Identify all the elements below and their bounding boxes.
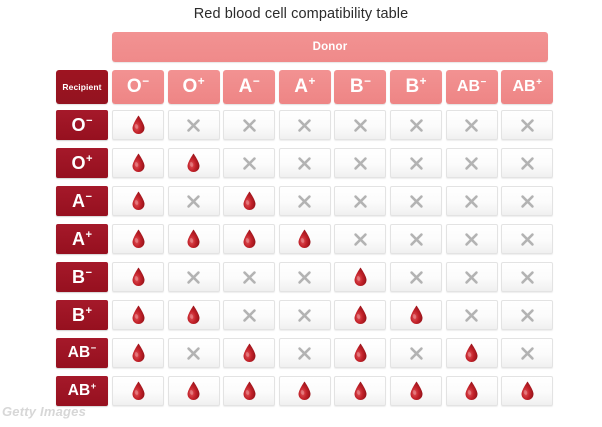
recipient-corner-label: Recipient: [56, 70, 108, 104]
blood-drop-icon: [242, 191, 257, 211]
cross-x-icon: [352, 193, 369, 210]
blood-type-label: AB+: [68, 382, 97, 400]
blood-type-label: A+: [294, 76, 315, 98]
cross-x-icon: [296, 117, 313, 134]
donor-header-apos[interactable]: A+: [279, 70, 331, 104]
donor-banner: Donor: [112, 32, 548, 62]
blood-type-label: A+: [72, 229, 92, 250]
matrix-cell[interactable]: [334, 376, 386, 406]
cross-x-icon: [463, 231, 480, 248]
rh-sign: +: [420, 75, 427, 88]
blood-drop-icon: [242, 343, 257, 363]
blood-drop-icon: [131, 343, 146, 363]
matrix-cell[interactable]: [223, 300, 275, 330]
matrix-cell[interactable]: [501, 148, 553, 178]
matrix-cell[interactable]: [390, 376, 442, 406]
blood-type-label: AB−: [68, 344, 97, 362]
matrix-cell[interactable]: [390, 300, 442, 330]
cross-x-icon: [185, 345, 202, 362]
blood-type-label: O+: [183, 76, 205, 98]
blood-type-label: AB+: [512, 78, 541, 96]
rh-sign: +: [308, 75, 315, 88]
blood-drop-icon: [186, 381, 201, 401]
matrix-cell[interactable]: [168, 186, 220, 216]
matrix-cell[interactable]: [446, 376, 498, 406]
cross-x-icon: [519, 307, 536, 324]
blood-drop-icon: [131, 305, 146, 325]
matrix-cell[interactable]: [112, 262, 164, 292]
matrix-cell[interactable]: [223, 338, 275, 368]
matrix-cell[interactable]: [390, 262, 442, 292]
matrix-cell[interactable]: [112, 376, 164, 406]
cross-x-icon: [185, 193, 202, 210]
recipient-corner-text: Recipient: [62, 82, 101, 92]
matrix-cell[interactable]: [390, 224, 442, 254]
cross-x-icon: [185, 269, 202, 286]
rh-sign: −: [85, 191, 92, 203]
matrix-cell[interactable]: [446, 186, 498, 216]
matrix-cell[interactable]: [501, 262, 553, 292]
cross-x-icon: [519, 117, 536, 134]
blood-drop-icon: [242, 229, 257, 249]
blood-type-label: O−: [127, 76, 149, 98]
blood-type-label: A−: [239, 76, 260, 98]
cross-x-icon: [241, 269, 258, 286]
donor-header-aneg[interactable]: A−: [223, 70, 275, 104]
blood-drop-icon: [186, 153, 201, 173]
donor-banner-label: Donor: [313, 41, 348, 53]
blood-drop-icon: [409, 381, 424, 401]
donor-header-abpos[interactable]: AB+: [501, 70, 553, 104]
cross-x-icon: [463, 269, 480, 286]
matrix-cell[interactable]: [446, 224, 498, 254]
cross-x-icon: [352, 117, 369, 134]
blood-drop-icon: [353, 343, 368, 363]
cross-x-icon: [408, 155, 425, 172]
matrix-cell[interactable]: [279, 262, 331, 292]
recipient-header-opos[interactable]: O+: [56, 148, 108, 178]
rh-sign: +: [198, 75, 205, 88]
recipient-header-bpos[interactable]: B+: [56, 300, 108, 330]
cross-x-icon: [296, 345, 313, 362]
blood-drop-icon: [464, 381, 479, 401]
cross-x-icon: [519, 193, 536, 210]
matrix-cell[interactable]: [390, 186, 442, 216]
cross-x-icon: [463, 155, 480, 172]
donor-header-oneg[interactable]: O−: [112, 70, 164, 104]
cross-x-icon: [241, 307, 258, 324]
matrix-cell[interactable]: [223, 186, 275, 216]
matrix-cell[interactable]: [168, 376, 220, 406]
donor-header-bpos[interactable]: B+: [390, 70, 442, 104]
blood-drop-icon: [186, 229, 201, 249]
blood-type-label: A−: [72, 191, 92, 212]
matrix-cell[interactable]: [501, 300, 553, 330]
matrix-cell[interactable]: [168, 300, 220, 330]
blood-type-label: B+: [405, 76, 426, 98]
matrix-cell[interactable]: [501, 110, 553, 140]
recipient-header-aneg[interactable]: A−: [56, 186, 108, 216]
cross-x-icon: [352, 231, 369, 248]
matrix-cell[interactable]: [334, 300, 386, 330]
rh-sign: −: [142, 75, 149, 88]
matrix-cell[interactable]: [223, 148, 275, 178]
matrix-cell[interactable]: [501, 186, 553, 216]
matrix-cell[interactable]: [168, 338, 220, 368]
matrix-cell[interactable]: [501, 224, 553, 254]
blood-drop-icon: [409, 305, 424, 325]
matrix-cell[interactable]: [446, 110, 498, 140]
cross-x-icon: [296, 155, 313, 172]
donor-header-row: Recipient O−O+A−A+B−B+AB−AB+: [56, 70, 548, 104]
blood-type-label: B+: [72, 305, 92, 326]
cross-x-icon: [296, 193, 313, 210]
donor-header-bneg[interactable]: B−: [334, 70, 386, 104]
matrix-cell[interactable]: [279, 338, 331, 368]
matrix-cell[interactable]: [223, 376, 275, 406]
cross-x-icon: [408, 345, 425, 362]
matrix-cell[interactable]: [334, 110, 386, 140]
blood-type-label: O+: [71, 153, 92, 174]
rh-sign: +: [85, 305, 92, 317]
cross-x-icon: [241, 117, 258, 134]
matrix-cell[interactable]: [446, 262, 498, 292]
blood-drop-icon: [131, 153, 146, 173]
recipient-header-abpos[interactable]: AB+: [56, 376, 108, 406]
donor-header-abneg[interactable]: AB−: [446, 70, 498, 104]
matrix-cell[interactable]: [446, 148, 498, 178]
matrix-cell[interactable]: [446, 300, 498, 330]
cross-x-icon: [519, 345, 536, 362]
matrix-cell[interactable]: [168, 110, 220, 140]
matrix-cell[interactable]: [168, 224, 220, 254]
matrix-cell[interactable]: [112, 338, 164, 368]
blood-type-label: O−: [71, 115, 92, 136]
rh-sign: −: [91, 343, 97, 354]
blood-drop-icon: [353, 305, 368, 325]
blood-drop-icon: [131, 115, 146, 135]
cross-x-icon: [463, 307, 480, 324]
recipient-header-bneg[interactable]: B−: [56, 262, 108, 292]
matrix-cell[interactable]: [501, 338, 553, 368]
watermark: Getty Images: [2, 404, 86, 419]
matrix-cell[interactable]: [334, 338, 386, 368]
cross-x-icon: [185, 117, 202, 134]
cross-x-icon: [296, 307, 313, 324]
rh-sign: +: [85, 229, 92, 241]
matrix-cell[interactable]: [279, 110, 331, 140]
matrix-cell[interactable]: [112, 110, 164, 140]
blood-drop-icon: [242, 381, 257, 401]
rh-sign: −: [86, 115, 93, 127]
cross-x-icon: [463, 193, 480, 210]
recipient-header-oneg[interactable]: O−: [56, 110, 108, 140]
matrix-cell[interactable]: [279, 186, 331, 216]
cross-x-icon: [408, 231, 425, 248]
matrix-cell[interactable]: [168, 262, 220, 292]
cross-x-icon: [519, 269, 536, 286]
rh-sign: +: [91, 381, 97, 392]
matrix-cell[interactable]: [112, 148, 164, 178]
recipient-header-abneg[interactable]: AB−: [56, 338, 108, 368]
matrix-cell[interactable]: [390, 148, 442, 178]
rh-sign: −: [85, 267, 92, 279]
matrix-cell[interactable]: [112, 300, 164, 330]
matrix-cell[interactable]: [334, 186, 386, 216]
rh-sign: +: [536, 77, 542, 88]
matrix-cell[interactable]: [168, 148, 220, 178]
rh-sign: +: [86, 153, 93, 165]
matrix-cell[interactable]: [223, 110, 275, 140]
cross-x-icon: [408, 193, 425, 210]
recipient-header-apos[interactable]: A+: [56, 224, 108, 254]
matrix-cell[interactable]: [390, 110, 442, 140]
matrix-cell[interactable]: [446, 338, 498, 368]
blood-drop-icon: [131, 229, 146, 249]
rh-sign: −: [364, 75, 371, 88]
cross-x-icon: [408, 117, 425, 134]
donor-header-opos[interactable]: O+: [168, 70, 220, 104]
matrix-cell[interactable]: [279, 300, 331, 330]
blood-drop-icon: [131, 267, 146, 287]
cross-x-icon: [519, 155, 536, 172]
rh-sign: −: [253, 75, 260, 88]
blood-type-label: B−: [350, 76, 371, 98]
rh-sign: −: [481, 77, 487, 88]
blood-drop-icon: [353, 267, 368, 287]
matrix-cell[interactable]: [112, 224, 164, 254]
matrix-cell[interactable]: [334, 224, 386, 254]
matrix-cell[interactable]: [279, 376, 331, 406]
blood-drop-icon: [297, 381, 312, 401]
blood-drop-icon: [297, 229, 312, 249]
blood-drop-icon: [131, 381, 146, 401]
matrix-cell[interactable]: [223, 262, 275, 292]
cross-x-icon: [408, 269, 425, 286]
cross-x-icon: [352, 155, 369, 172]
compatibility-table: Donor Recipient O−O+A−A+B−B+AB−AB+ O−O+A…: [0, 0, 602, 427]
cross-x-icon: [519, 231, 536, 248]
blood-drop-icon: [520, 381, 535, 401]
blood-drop-icon: [353, 381, 368, 401]
matrix-cell[interactable]: [334, 148, 386, 178]
blood-drop-icon: [131, 191, 146, 211]
cross-x-icon: [296, 269, 313, 286]
cross-x-icon: [463, 117, 480, 134]
matrix-cell[interactable]: [112, 186, 164, 216]
blood-type-label: B−: [72, 267, 92, 288]
matrix-cell[interactable]: [279, 148, 331, 178]
matrix-cell[interactable]: [223, 224, 275, 254]
cross-x-icon: [241, 155, 258, 172]
matrix-cell[interactable]: [390, 338, 442, 368]
matrix-cell[interactable]: [279, 224, 331, 254]
matrix-cell[interactable]: [501, 376, 553, 406]
blood-type-label: AB−: [457, 78, 486, 96]
blood-drop-icon: [464, 343, 479, 363]
blood-drop-icon: [186, 305, 201, 325]
matrix-cell[interactable]: [334, 262, 386, 292]
